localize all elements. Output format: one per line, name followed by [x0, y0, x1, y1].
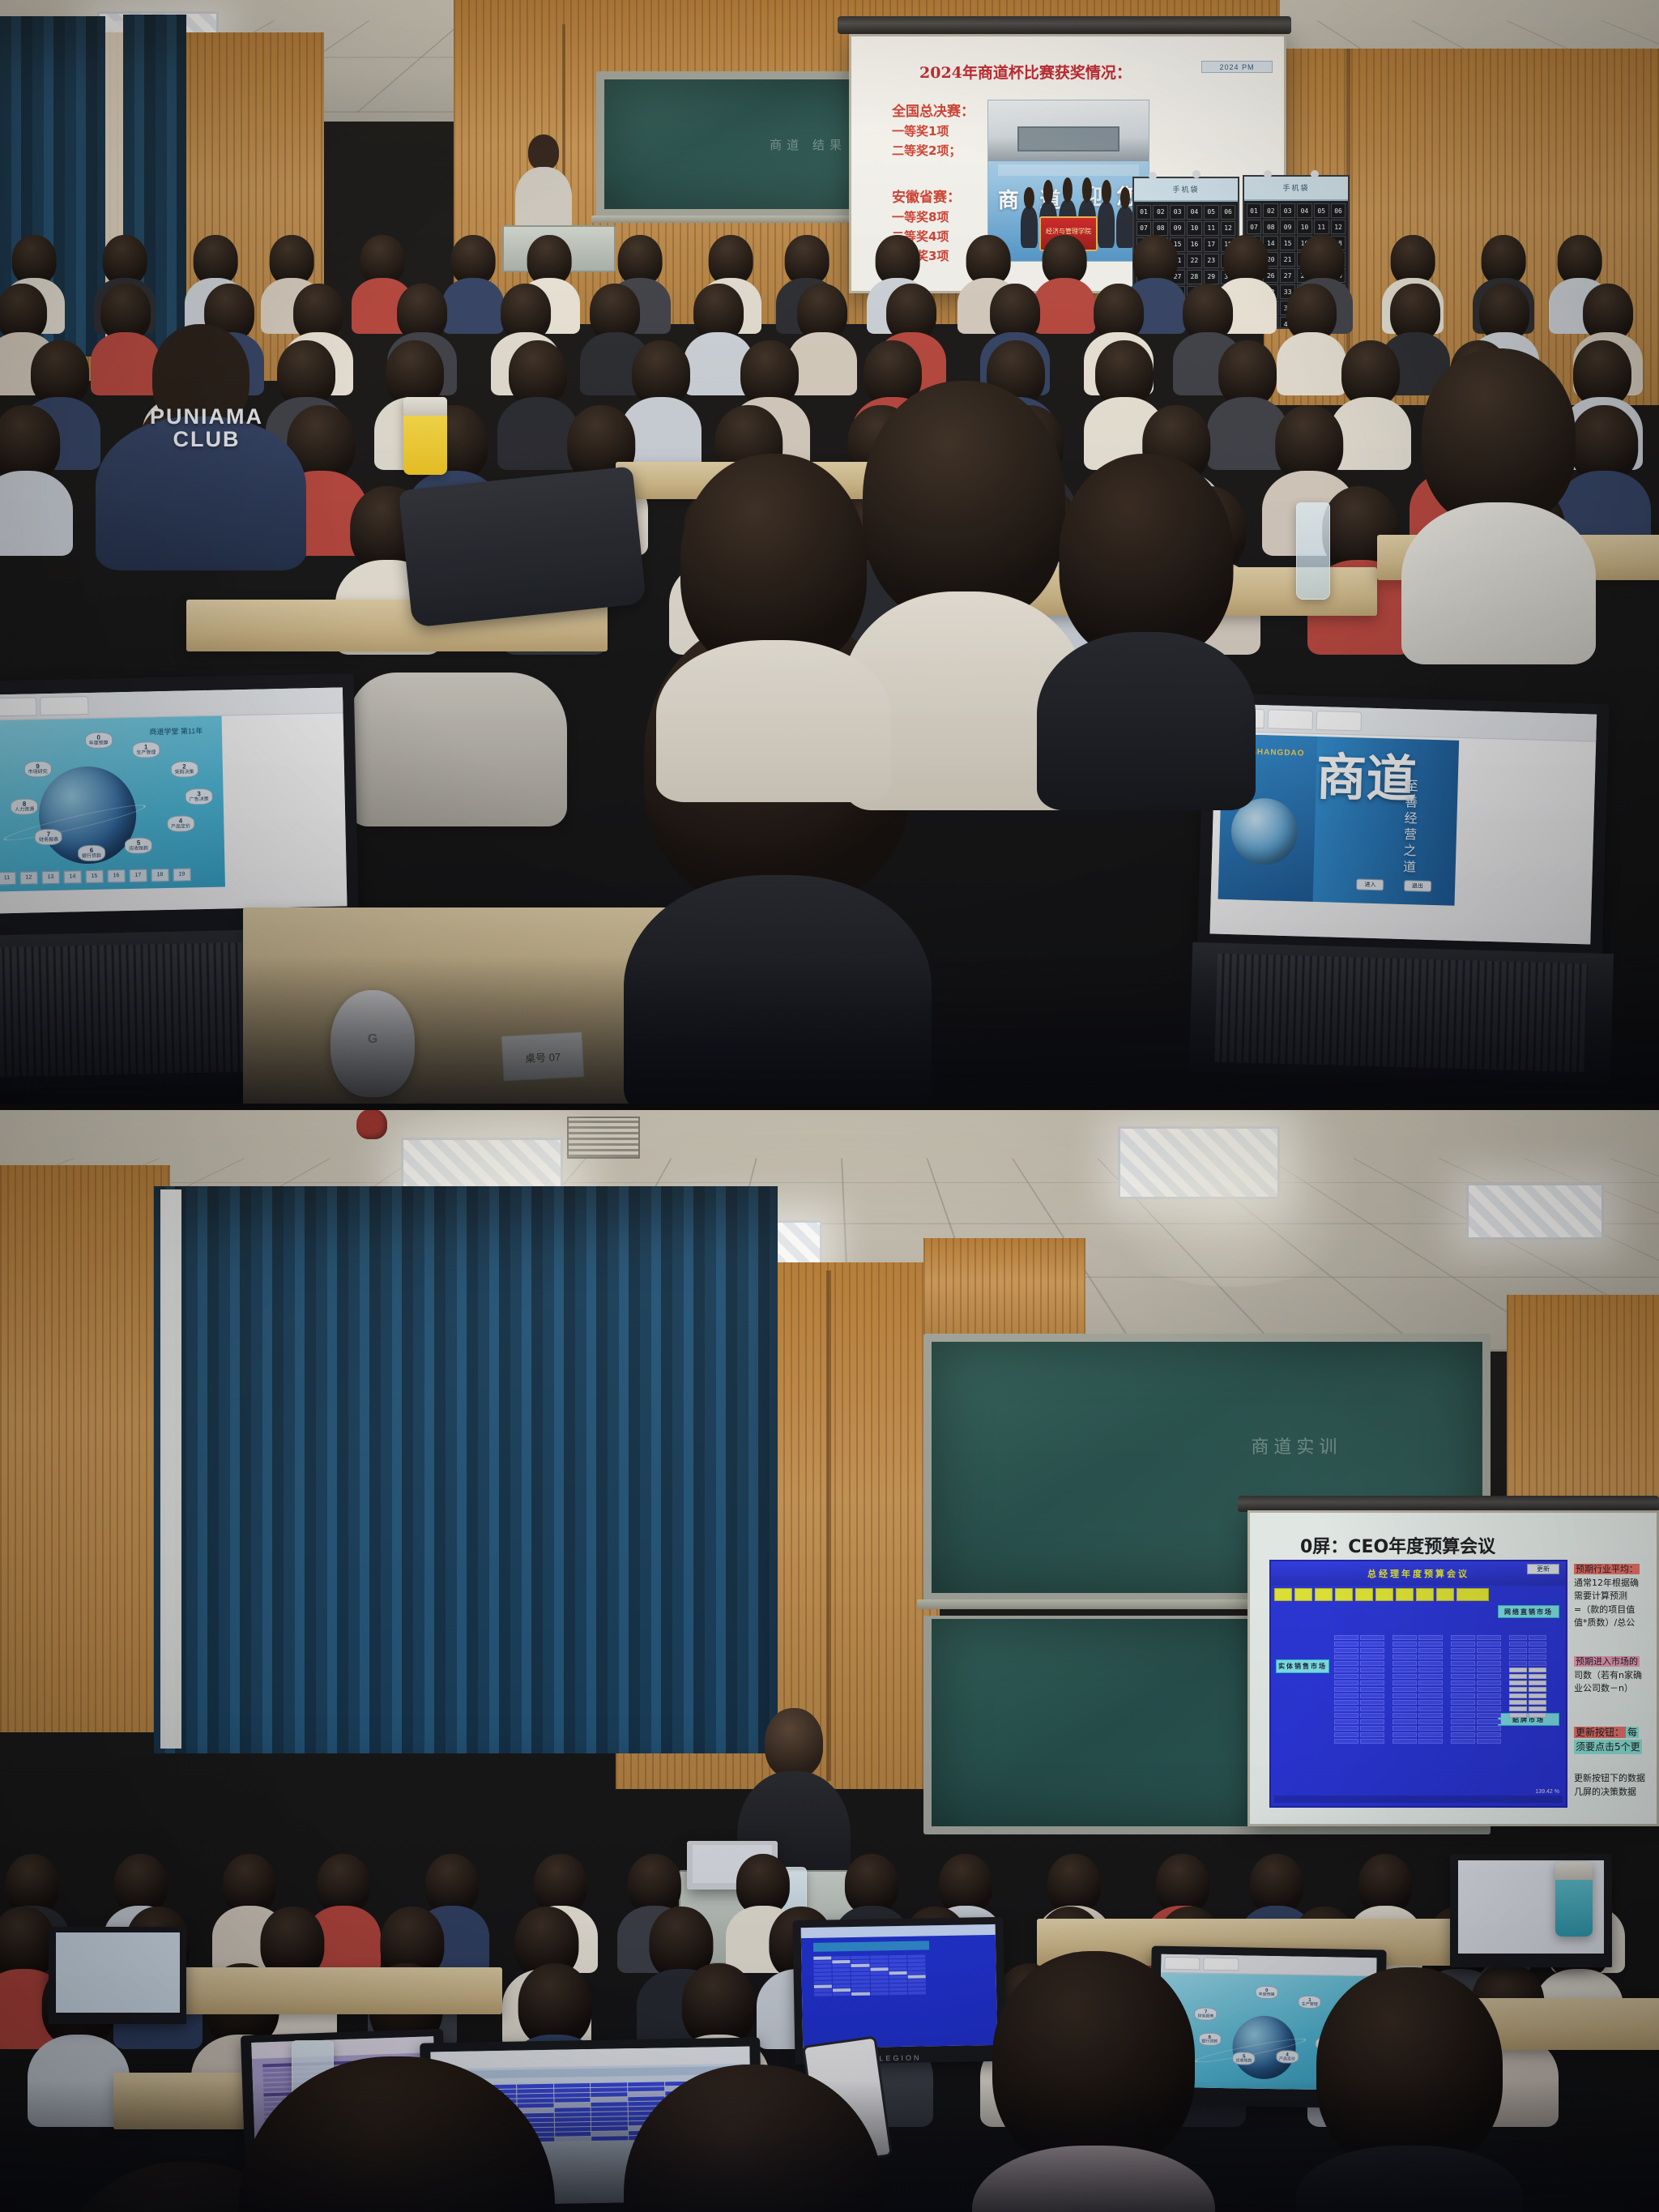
- left-panel-label: 实体销售市场: [1276, 1659, 1329, 1673]
- sheet-cell: [1360, 1674, 1384, 1679]
- annotation-1-line: 需要计算预测: [1574, 1590, 1640, 1603]
- app-header-text: 商道学堂 第11年: [149, 725, 203, 737]
- data-cell: [907, 1954, 925, 1958]
- organizer-slot[interactable]: 08: [1263, 220, 1278, 234]
- slide-line: 二等奖2项；: [892, 143, 961, 160]
- sheet-cell: [1477, 1713, 1501, 1718]
- laptop-screen-left[interactable]: 商道学堂 第11年 0年度预算1生产管理2采购决策3广告决策4产品定价5应收账款…: [0, 687, 347, 914]
- menu-node-label: 银行贷款: [82, 854, 101, 860]
- student-head: [1316, 1967, 1503, 2170]
- data-cell: [814, 1980, 832, 1984]
- data-cell: [908, 1983, 926, 1986]
- data-cell: [832, 1964, 850, 1967]
- sheet-cell: [1418, 1732, 1443, 1737]
- organizer-slot[interactable]: 03: [1170, 205, 1185, 220]
- sheet-cell: [1451, 1693, 1475, 1698]
- annotation-1-line: =（款的项目值: [1574, 1603, 1640, 1617]
- backpack[interactable]: [399, 466, 646, 627]
- annotation-2: 预期进入市场的 司数（若有n家确 业公司数－n）: [1574, 1655, 1642, 1696]
- sheet-cell: [1451, 1648, 1475, 1653]
- student-body: [1296, 2146, 1523, 2212]
- sheet-cell: [1477, 1706, 1501, 1711]
- classroom-top: 商道 结果 2024年商道杯比赛获奖情况： 全国总决赛： 一等奖1项 二等奖2项…: [0, 0, 1659, 1108]
- spreadsheet-title: 总经理年度预算会议: [1271, 1561, 1566, 1586]
- sheet-cell: [1529, 1693, 1546, 1698]
- cell-block: [1392, 1635, 1443, 1744]
- sheet-cell: [1529, 1706, 1546, 1711]
- sheet-cell: [1451, 1642, 1475, 1646]
- sheet-cell: [1360, 1648, 1384, 1653]
- sheet-cell: [1451, 1739, 1475, 1744]
- data-cell: [851, 1959, 869, 1962]
- mouse-logitech[interactable]: G: [331, 990, 415, 1097]
- sheet-cell: [1477, 1655, 1501, 1659]
- sheet-cell: [1529, 1668, 1546, 1672]
- water-bottle[interactable]: [1296, 502, 1330, 600]
- cell-block: [1334, 1635, 1384, 1744]
- data-cell: [813, 1956, 831, 1959]
- data-cell: [908, 1966, 926, 1970]
- laptop-student-far-left[interactable]: [49, 1927, 186, 2024]
- instructor-top: [515, 135, 572, 232]
- sheet-cell: [1451, 1655, 1475, 1659]
- sheet-cell: [1360, 1719, 1384, 1724]
- laptop-right-base[interactable]: [1189, 942, 1614, 1083]
- organizer-label: 手机袋: [1244, 177, 1348, 201]
- organizer-slot[interactable]: 10: [1187, 221, 1202, 236]
- chalkboard-writing: 商道 结果: [770, 136, 847, 153]
- data-cell: [889, 1959, 906, 1962]
- organizer-slot[interactable]: 03: [1280, 203, 1295, 218]
- sheet-cell: [1451, 1674, 1475, 1679]
- data-cell: [870, 1979, 888, 1983]
- browser-tab[interactable]: [40, 696, 88, 715]
- sheet-cell: [1334, 1732, 1358, 1737]
- clip-icon: [1149, 172, 1157, 180]
- inset-word-shang: 商: [998, 184, 1019, 214]
- browser-tab[interactable]: [1268, 709, 1314, 729]
- menu-node-label: 人力资源: [15, 807, 34, 813]
- student-body: [972, 2146, 1215, 2212]
- organizer-slot[interactable]: 12: [1331, 220, 1346, 234]
- menu-node-6[interactable]: 6银行贷款: [78, 845, 105, 862]
- laptop-brand-label: LEGION: [879, 2054, 921, 2063]
- student-body: [1037, 632, 1256, 810]
- sheet-cell: [1477, 1693, 1501, 1698]
- data-cell: [851, 1984, 869, 1987]
- sheet-cell: [1418, 1674, 1443, 1679]
- sheet-cell: [1418, 1648, 1443, 1653]
- sheet-cell: [1509, 1674, 1527, 1679]
- hoodie-text-line2: CLUB: [130, 428, 284, 451]
- update-button[interactable]: 更新: [1527, 1564, 1559, 1574]
- sheet-cell: [1360, 1706, 1384, 1711]
- sheet-tab-8[interactable]: [1436, 1588, 1454, 1601]
- slide-line: 一等奖8项: [892, 210, 949, 226]
- menu-bottom-button-18[interactable]: 18: [151, 869, 168, 882]
- sheet-cell: [1392, 1648, 1417, 1653]
- annotation-1: 预期行业平均： 通常12年根据确 需要计算预测 =（款的项目值 值*质数）/总公: [1574, 1563, 1640, 1630]
- menu-node-5[interactable]: 5应收账款: [1232, 2052, 1255, 2065]
- annotation-4: 更新按钮下的数据 几屏的决策数据: [1574, 1772, 1645, 1799]
- sheet-tab-6[interactable]: [1396, 1588, 1414, 1601]
- menu-node-0[interactable]: 0年度预算: [84, 732, 112, 749]
- app-canvas: 商道学堂 第11年 0年度预算1生产管理2采购决策3广告决策4产品定价5应收账款…: [0, 716, 225, 892]
- sheet-cell: [1451, 1687, 1475, 1692]
- menu-bottom-button-11[interactable]: 11: [0, 871, 16, 884]
- browser-chrome[interactable]: [0, 687, 343, 721]
- organizer-slot[interactable]: 11: [1204, 221, 1219, 236]
- organizer-slot[interactable]: 09: [1170, 221, 1185, 236]
- menu-node-number: 1: [144, 744, 148, 750]
- student-head: [624, 2065, 883, 2212]
- student-head: [239, 2056, 555, 2212]
- sheet-cell: [1509, 1713, 1527, 1718]
- slide-section-heading-national: 全国总决赛：: [892, 103, 975, 121]
- sheet-cell: [1509, 1680, 1527, 1685]
- annotation-2-head: 预期进入市场的: [1574, 1656, 1640, 1667]
- menu-node-8[interactable]: 8人力资源: [11, 798, 38, 815]
- instructor-head: [528, 135, 559, 170]
- data-cell: [870, 1963, 888, 1966]
- data-grid: [813, 1954, 927, 1996]
- menu-node-label: 采购决策: [174, 770, 194, 775]
- organizer-slot[interactable]: 06: [1331, 203, 1346, 218]
- sheet-cell: [1360, 1661, 1384, 1666]
- organizer-slot[interactable]: 10: [1297, 220, 1312, 234]
- sheet-cell: [1334, 1668, 1358, 1672]
- clip-icon: [1264, 170, 1272, 178]
- annotation-3-line: 须要点击5个更: [1574, 1740, 1642, 1754]
- laptop-lid: 商道 SHANGDAO 商道 至善经营之道 进入 退出: [1196, 693, 1609, 971]
- student-body: [1401, 502, 1596, 664]
- sheet-cell: [1477, 1687, 1501, 1692]
- laptop-screen-right[interactable]: 商道 SHANGDAO 商道 至善经营之道 进入 退出: [1209, 704, 1597, 945]
- sheet-cell: [1360, 1635, 1384, 1640]
- menu-node-0[interactable]: 0年度预算: [1256, 1986, 1278, 1999]
- menu-bottom-button-12[interactable]: 12: [19, 871, 37, 884]
- sheet-cell: [1451, 1732, 1475, 1737]
- organizer-slot[interactable]: 06: [1221, 205, 1236, 220]
- splash-enter-button[interactable]: 进入: [1356, 878, 1384, 890]
- app-titlebar: [801, 1924, 995, 1939]
- sheet-cell: [1477, 1661, 1501, 1666]
- classroom-bottom: 商道实训 0屏：CEO年度预算会议 总经理年度预算会议 更新 实体销售市场 网络…: [0, 1108, 1659, 2212]
- wall-seam: [826, 1270, 831, 1781]
- sheet-cell: [1334, 1693, 1358, 1698]
- collage-seam: [0, 1104, 1659, 1110]
- sheet-cell: [1451, 1661, 1475, 1666]
- browser-tab[interactable]: [1316, 711, 1362, 731]
- organizer-slot[interactable]: 28: [1187, 270, 1202, 284]
- data-cell: [908, 1971, 926, 1974]
- sheet-cell: [1477, 1642, 1501, 1646]
- data-cell: [889, 1967, 906, 1971]
- photo-panel-top: 商道 结果 2024年商道杯比赛获奖情况： 全国总决赛： 一等奖1项 二等奖2项…: [0, 0, 1659, 1108]
- organizer-slot[interactable]: 02: [1263, 203, 1278, 218]
- organizer-label: 手机袋: [1134, 178, 1238, 202]
- sheet-tab-9[interactable]: [1456, 1588, 1489, 1601]
- slide-corner-badge: 2024 PM: [1201, 61, 1273, 73]
- slide-line: 一等奖1项: [892, 124, 949, 140]
- sheet-cell: [1360, 1726, 1384, 1731]
- thermos-cyan[interactable]: [1555, 1862, 1593, 1937]
- data-cell: [889, 1971, 906, 1975]
- window-light-gap: [160, 1189, 181, 1749]
- data-cell: [851, 1971, 869, 1975]
- organizer-slot[interactable]: 05: [1204, 205, 1219, 220]
- ceiling-light: [1466, 1183, 1604, 1240]
- organizer-slot[interactable]: 01: [1137, 205, 1152, 220]
- sheet-cell: [1334, 1713, 1358, 1718]
- sheet-tab-4[interactable]: [1355, 1588, 1373, 1601]
- sheet-cell: [1360, 1655, 1384, 1659]
- student-head: [992, 1951, 1195, 2170]
- splash-subtitle: 至善经营之道: [1398, 779, 1420, 877]
- sheet-cell: [1360, 1668, 1384, 1672]
- projector-screen-roller: [1238, 1496, 1659, 1512]
- menu-node-label: 广告决策: [190, 797, 209, 803]
- student-foreground-center: [599, 2065, 907, 2212]
- menu-button-row[interactable]: 111213141516171819: [0, 868, 191, 885]
- sheet-cell: [1418, 1680, 1443, 1685]
- menu-node-number: 5: [137, 839, 141, 846]
- splash-exit-button[interactable]: 退出: [1404, 880, 1431, 892]
- organizer-slot[interactable]: 04: [1297, 203, 1312, 218]
- sheet-cell: [1360, 1687, 1384, 1692]
- data-cell: [908, 1991, 926, 1994]
- data-cell: [889, 1955, 906, 1958]
- data-cell: [833, 1980, 851, 1984]
- cell-block: [1509, 1635, 1546, 1718]
- app-titlebar: [251, 2036, 434, 2058]
- data-cell: [814, 1988, 832, 1992]
- data-cell: [851, 1967, 869, 1971]
- thermos-cap: [403, 397, 447, 416]
- sheet-cell: [1509, 1687, 1527, 1692]
- student-midground-right: [972, 1951, 1215, 2212]
- organizer-slot[interactable]: 05: [1314, 203, 1329, 218]
- sheet-cell: [1477, 1732, 1501, 1737]
- sheet-tab-3[interactable]: [1335, 1588, 1353, 1601]
- spreadsheet-footer: [1274, 1796, 1563, 1803]
- sheet-cell: [1451, 1680, 1475, 1685]
- student-right-edge: [1296, 1967, 1523, 2212]
- sheet-cell: [1477, 1674, 1501, 1679]
- data-cell: [832, 1956, 850, 1959]
- inset-window: [1017, 126, 1120, 152]
- data-cell: [851, 1975, 869, 1979]
- data-cell: [908, 1975, 926, 1978]
- wall-upper: [923, 1238, 1085, 1335]
- sheet-cell: [1418, 1655, 1443, 1659]
- menu-bottom-button-17[interactable]: 17: [129, 869, 147, 882]
- student-body: [624, 875, 932, 1108]
- sheet-cell: [1360, 1642, 1384, 1646]
- organizer-slot[interactable]: 02: [1153, 205, 1168, 220]
- data-cell: [889, 1975, 907, 1979]
- menu-node-label: 应收账款: [1236, 2059, 1252, 2063]
- data-cell: [833, 1972, 851, 1975]
- sheet-cell: [1418, 1706, 1443, 1711]
- sheet-tab-5[interactable]: [1375, 1588, 1393, 1601]
- menu-node-number: 0: [96, 735, 100, 741]
- sheet-cell: [1392, 1661, 1417, 1666]
- data-cell: [814, 1992, 832, 1996]
- sheet-cell: [1360, 1680, 1384, 1685]
- projection-screen-bottom: 0屏：CEO年度预算会议 总经理年度预算会议 更新 实体销售市场 网络直销市场 …: [1247, 1510, 1659, 1826]
- inset-banner-header: [998, 164, 1139, 176]
- student-row2-right: [1037, 454, 1256, 802]
- menu-node-label: 市场研究: [28, 770, 48, 775]
- organizer-slot[interactable]: 22: [1187, 254, 1202, 268]
- data-cell: [907, 1958, 925, 1962]
- clip-icon: [1192, 170, 1201, 178]
- annotation-3: 更新按钮：每 须要点击5个更: [1574, 1725, 1642, 1754]
- annotation-1-head: 预期行业平均：: [1574, 1564, 1640, 1574]
- sheet-cell: [1334, 1648, 1358, 1653]
- data-cell: [908, 1962, 926, 1966]
- sheet-cell: [1334, 1739, 1358, 1744]
- menu-node-label: 年度预算: [1259, 1992, 1275, 1996]
- sheet-cell: [1418, 1668, 1443, 1672]
- menu-node-2[interactable]: 2采购决策: [170, 761, 198, 778]
- sheet-cell: [1529, 1661, 1546, 1666]
- laptop-right-foreground[interactable]: 商道 SHANGDAO 商道 至善经营之道 进入 退出: [1196, 693, 1609, 971]
- sheet-cell: [1418, 1693, 1443, 1698]
- laptop-lid: [49, 1927, 186, 2024]
- thermos-yellow[interactable]: [403, 397, 447, 475]
- sheet-cell: [1418, 1700, 1443, 1705]
- organizer-slot[interactable]: 08: [1153, 221, 1168, 236]
- data-cell: [851, 1992, 869, 1995]
- organizer-slot[interactable]: 04: [1187, 205, 1202, 220]
- menu-node-label: 产品定价: [171, 825, 190, 831]
- keyboard[interactable]: [1214, 953, 1588, 1072]
- menu-node-number: 2: [182, 763, 186, 770]
- menu-node-1[interactable]: 1生产管理: [132, 741, 160, 758]
- sheet-cell: [1418, 1661, 1443, 1666]
- menu-node-5[interactable]: 5应收账款: [125, 837, 152, 854]
- sheet-cell: [1392, 1732, 1417, 1737]
- sheet-cell: [1392, 1706, 1417, 1711]
- annotation-4-line: 几屏的决策数据: [1574, 1786, 1645, 1800]
- organizer-slot[interactable]: 16: [1187, 237, 1202, 252]
- sheet-cell: [1392, 1726, 1417, 1731]
- sheet-cell: [1392, 1680, 1417, 1685]
- cell-block: [1451, 1635, 1501, 1744]
- sheet-cell: [1334, 1700, 1358, 1705]
- sheet-cell: [1477, 1680, 1501, 1685]
- organizer-slot[interactable]: 11: [1314, 220, 1329, 234]
- sheet-cell: [1509, 1655, 1527, 1659]
- organizer-slot[interactable]: 07: [1137, 221, 1152, 236]
- sheet-cell: [1392, 1687, 1417, 1692]
- chair: [348, 673, 567, 826]
- data-cell: [889, 1963, 906, 1966]
- sheet-cell: [1529, 1687, 1546, 1692]
- data-cell: [870, 1967, 888, 1971]
- menu-bottom-button-14[interactable]: 14: [63, 870, 81, 883]
- data-cell: [870, 1959, 888, 1962]
- sheet-cell: [1418, 1642, 1443, 1646]
- annotation-2-line: 司数（若有n家确: [1574, 1669, 1642, 1683]
- sheet-cell: [1529, 1642, 1546, 1646]
- menu-node-7[interactable]: 7财务报表: [35, 829, 62, 846]
- menu-node-4[interactable]: 4产品定价: [1276, 2050, 1299, 2063]
- organizer-slot[interactable]: 01: [1247, 203, 1262, 218]
- data-cell: [833, 1992, 851, 1996]
- data-cell: [870, 1955, 888, 1958]
- menu-node-label: 年度预算: [89, 741, 109, 746]
- wall-left: [0, 1165, 170, 1732]
- sheet-cell: [1334, 1674, 1358, 1679]
- data-cell: [851, 1988, 869, 1991]
- inset-person: [1098, 202, 1115, 248]
- menu-node-label: 应收账款: [129, 846, 148, 852]
- menu-node-3[interactable]: 3广告决策: [185, 788, 212, 805]
- organizer-slot[interactable]: 09: [1280, 220, 1295, 234]
- browser-tab[interactable]: [0, 697, 37, 716]
- sheet-tab-2[interactable]: [1315, 1588, 1333, 1601]
- photo-panel-bottom: 商道实训 0屏：CEO年度预算会议 总经理年度预算会议 更新 实体销售市场 网络…: [0, 1108, 1659, 2212]
- sheet-cell: [1509, 1668, 1527, 1672]
- sheet-tab-1[interactable]: [1294, 1588, 1312, 1601]
- air-vent: [567, 1117, 640, 1159]
- menu-bottom-button-13[interactable]: 13: [41, 870, 59, 883]
- menu-bottom-button-15[interactable]: 15: [85, 869, 103, 882]
- instructor-head: [765, 1708, 823, 1778]
- sheet-cell: [1360, 1693, 1384, 1698]
- sheet-tab-0[interactable]: [1274, 1588, 1292, 1601]
- sheet-cell: [1529, 1648, 1546, 1653]
- sheet-cell: [1509, 1635, 1527, 1640]
- data-cell: [889, 1979, 907, 1983]
- sheet-cell: [1509, 1648, 1527, 1653]
- desk-number-card: 桌号 07: [501, 1031, 585, 1081]
- organizer-slot[interactable]: 07: [1247, 220, 1262, 234]
- sheet-cell: [1529, 1635, 1546, 1640]
- photo-collage: 商道 结果 2024年商道杯比赛获奖情况： 全国总决赛： 一等奖1项 二等奖2项…: [0, 0, 1659, 2212]
- menu-node-label: 财务报表: [39, 838, 58, 843]
- menu-node-4[interactable]: 4产品定价: [167, 816, 194, 833]
- laptop-screen[interactable]: [801, 1924, 997, 2049]
- footer-value: 139.42 %: [1535, 1789, 1559, 1795]
- data-cell: [851, 1979, 869, 1983]
- sheet-cell: [1334, 1655, 1358, 1659]
- student-row2: [656, 454, 891, 794]
- organizer-slot[interactable]: 12: [1221, 221, 1236, 236]
- data-cell: [851, 1955, 869, 1958]
- sheet-cell: [1477, 1648, 1501, 1653]
- data-cell: [851, 1963, 869, 1966]
- slide-section-heading-province: 安徽省赛：: [892, 189, 961, 207]
- menu-bottom-button-16[interactable]: 16: [107, 869, 125, 882]
- sheet-tab-7[interactable]: [1416, 1588, 1434, 1601]
- data-cell: [813, 1972, 831, 1975]
- data-cell: [833, 1976, 851, 1979]
- student-body: [656, 640, 891, 802]
- data-cell: [908, 1979, 926, 1982]
- sheet-cell: [1334, 1635, 1358, 1640]
- data-cell: [889, 1984, 907, 1987]
- annotation-2-line: 业公司数－n）: [1574, 1682, 1642, 1696]
- sheet-cell: [1509, 1642, 1527, 1646]
- menu-node-9[interactable]: 9市场研究: [23, 761, 51, 778]
- spreadsheet-tab-row[interactable]: [1274, 1588, 1489, 1601]
- menu-bottom-button-19[interactable]: 19: [173, 868, 190, 881]
- laptop-screen[interactable]: [56, 1932, 180, 2012]
